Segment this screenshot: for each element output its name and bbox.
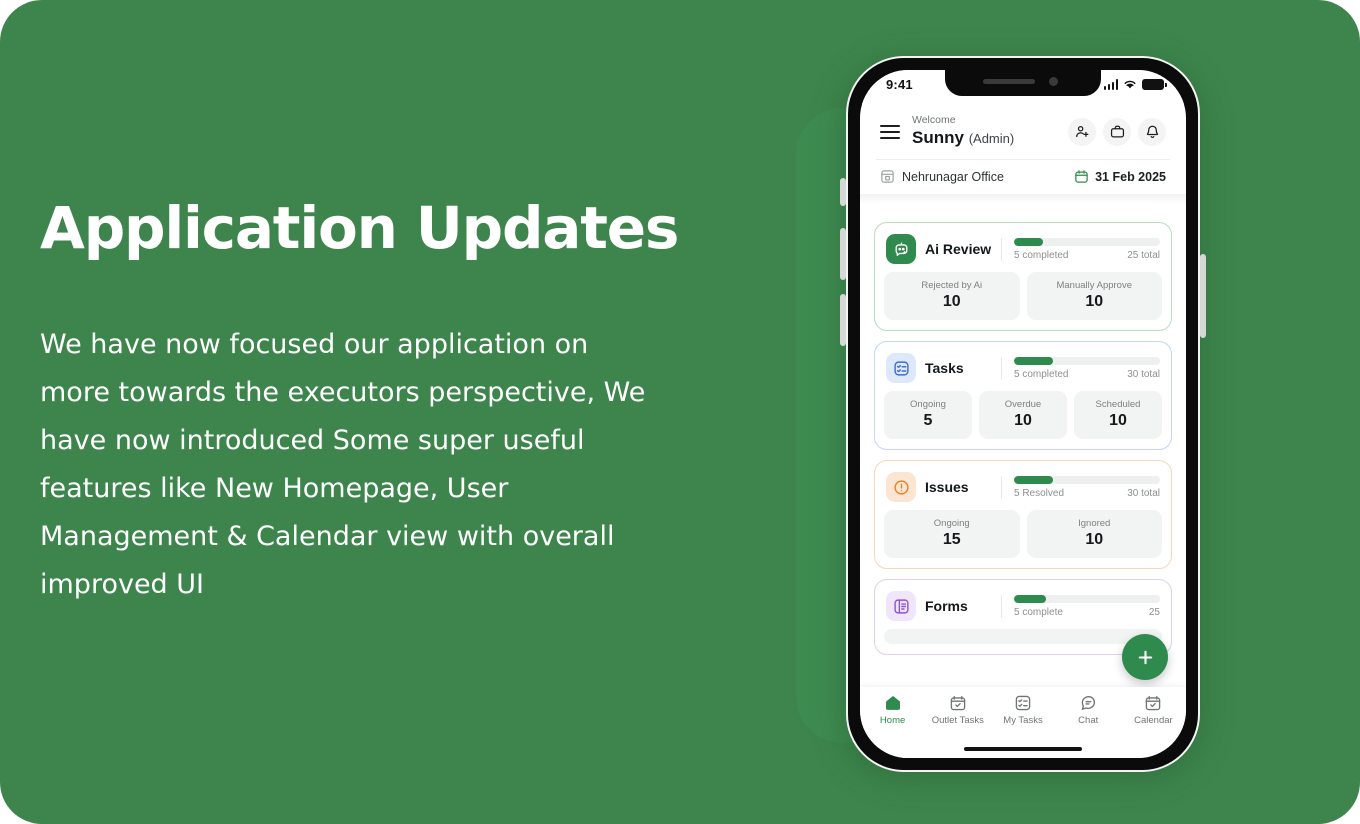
progress-labels: 5 completed 30 total [1014,369,1160,380]
progress-fill [1014,595,1046,603]
nav-label: Outlet Tasks [932,715,984,726]
module-card-tasks[interactable]: Tasks 5 completed 30 total [874,341,1172,450]
stat-row: Ongoing 5 Overdue 10 Scheduled 10 [884,391,1162,439]
phone-frame: 9:41 [846,56,1200,772]
hamburger-menu-icon[interactable] [880,121,900,143]
user-role-text: (Admin) [969,131,1015,146]
stat-label: Ongoing [888,398,968,411]
stat-label: Ongoing [888,517,1016,530]
status-icons [1104,79,1165,90]
earpiece-speaker [983,79,1035,84]
chat-icon [1079,694,1097,712]
progress-track [1014,476,1160,484]
body-paragraph: We have now focused our application on m… [40,321,660,609]
nav-label: Calendar [1134,715,1173,726]
stat-value: 5 [888,411,968,431]
progress-left-label: 5 complete [1014,607,1063,618]
stat-value: 10 [1078,411,1158,431]
progress-track [1014,238,1160,246]
header-shadow [860,194,1186,204]
slide-canvas: Application Updates We have now focused … [0,0,1360,824]
robot-icon [886,234,916,264]
my-tasks-icon [1014,694,1032,712]
stat-value: 10 [1031,530,1159,550]
home-icon [884,694,902,712]
user-name-text: Sunny [912,128,964,147]
stat-box[interactable]: Ongoing 5 [884,391,972,439]
stat-box[interactable]: Scheduled 10 [1074,391,1162,439]
module-progress: 5 Resolved 30 total [1001,476,1160,499]
module-title: Ai Review [925,241,997,257]
progress-right-label: 30 total [1127,369,1160,380]
greeting-block: Welcome Sunny (Admin) [912,114,1068,149]
nav-label: My Tasks [1003,715,1042,726]
nav-label: Home [880,715,905,726]
module-card-ai-review[interactable]: Ai Review 5 completed 25 total [874,222,1172,331]
phone-power-button[interactable] [1200,254,1206,338]
module-header: Issues 5 Resolved 30 total [884,470,1162,510]
stat-box[interactable]: Manually Approve 10 [1027,272,1163,320]
progress-right-label: 25 total [1127,250,1160,261]
progress-left-label: 5 completed [1014,369,1068,380]
add-fab-button[interactable] [1122,634,1168,680]
phone-screen: 9:41 [860,70,1186,758]
bell-icon[interactable] [1138,118,1166,146]
form-list-icon [886,591,916,621]
cellular-bars-icon [1104,79,1119,90]
progress-labels: 5 complete 25 [1014,607,1160,618]
progress-fill [1014,238,1043,246]
phone-notch [945,70,1101,96]
progress-labels: 5 completed 25 total [1014,250,1160,261]
module-header: Ai Review 5 completed 25 total [884,232,1162,272]
briefcase-icon[interactable] [1103,118,1131,146]
stat-row: Ongoing 15 Ignored 10 [884,510,1162,558]
outlet-selector[interactable]: Nehrunagar Office [880,169,1074,184]
progress-fill [1014,476,1053,484]
nav-item-home[interactable]: Home [860,694,925,726]
greeting-label: Welcome [912,114,1068,127]
stat-value: 10 [983,411,1063,431]
stat-label: Ignored [1031,517,1159,530]
progress-left-label: 5 completed [1014,250,1068,261]
nav-item-calendar[interactable]: Calendar [1121,694,1186,726]
page-title: Application Updates [40,198,700,259]
stat-box[interactable]: Rejected by Ai 10 [884,272,1020,320]
progress-track [1014,595,1160,603]
battery-icon [1142,79,1164,90]
calendar-icon [1074,169,1089,184]
module-progress: 5 completed 25 total [1001,238,1160,261]
progress-fill [1014,357,1053,365]
user-name: Sunny (Admin) [912,127,1068,149]
add-user-icon[interactable] [1068,118,1096,146]
stat-box[interactable] [884,629,1162,644]
outlet-name: Nehrunagar Office [902,170,1004,184]
context-bar: Nehrunagar Office 31 Feb 2025 [860,160,1186,194]
stat-value: 10 [1031,292,1159,312]
progress-track [1014,357,1160,365]
home-indicator[interactable] [964,747,1082,751]
phone-mockup: 9:41 [790,46,1220,786]
module-progress: 5 complete 25 [1001,595,1160,618]
progress-labels: 5 Resolved 30 total [1014,488,1160,499]
module-header: Tasks 5 completed 30 total [884,351,1162,391]
store-icon [880,169,895,184]
progress-left-label: 5 Resolved [1014,488,1064,499]
front-camera [1049,77,1058,86]
nav-item-outlet-tasks[interactable]: Outlet Tasks [925,694,990,726]
stat-value: 10 [888,292,1016,312]
module-list[interactable]: Ai Review 5 completed 25 total [860,222,1186,694]
date-selector[interactable]: 31 Feb 2025 [1074,169,1166,184]
header-actions [1068,118,1166,146]
module-header: Forms 5 complete 25 [884,589,1162,629]
stat-label: Manually Approve [1031,279,1159,292]
module-title: Issues [925,479,997,495]
nav-item-chat[interactable]: Chat [1056,694,1121,726]
alert-circle-icon [886,472,916,502]
date-text: 31 Feb 2025 [1095,170,1166,184]
stat-label: Scheduled [1078,398,1158,411]
outlet-tasks-icon [949,694,967,712]
nav-item-my-tasks[interactable]: My Tasks [990,694,1055,726]
progress-right-label: 30 total [1127,488,1160,499]
plus-icon [1135,647,1156,668]
checklist-icon [886,353,916,383]
status-time: 9:41 [886,77,913,92]
module-progress: 5 completed 30 total [1001,357,1160,380]
app-header: Welcome Sunny (Admin) [860,104,1186,149]
bottom-navigation: Home Outlet Tasks [860,687,1186,758]
wifi-icon [1123,79,1137,90]
status-bar: 9:41 [860,70,1186,104]
progress-right-label: 25 [1149,607,1160,618]
calendar-check-icon [1144,694,1162,712]
stat-row [884,629,1162,644]
module-title: Tasks [925,360,997,376]
stat-label: Overdue [983,398,1063,411]
stat-box[interactable]: Overdue 10 [979,391,1067,439]
module-title: Forms [925,598,997,614]
stat-label: Rejected by Ai [888,279,1016,292]
module-card-issues[interactable]: Issues 5 Resolved 30 total [874,460,1172,569]
nav-label: Chat [1078,715,1098,726]
copy-block: Application Updates We have now focused … [40,198,700,609]
stat-row: Rejected by Ai 10 Manually Approve 10 [884,272,1162,320]
stat-box[interactable]: Ongoing 15 [884,510,1020,558]
stat-box[interactable]: Ignored 10 [1027,510,1163,558]
stat-value: 15 [888,530,1016,550]
